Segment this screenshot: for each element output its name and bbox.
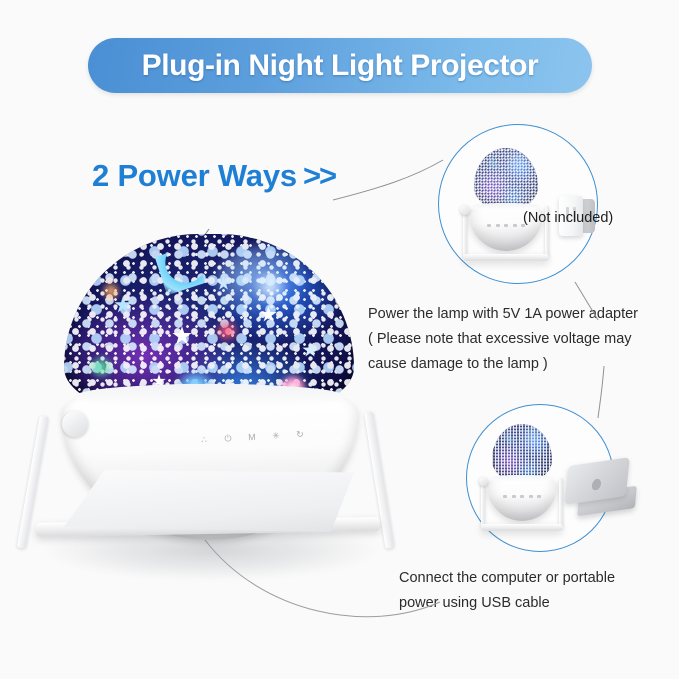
section-heading-label: 2 Power Ways: [92, 158, 297, 193]
star-cluster-icon[interactable]: ∴: [196, 435, 212, 445]
lamp-moon-icon: [490, 156, 501, 167]
section-heading: 2 Power Ways>>: [92, 158, 335, 194]
control-dot: [520, 495, 524, 498]
lamp-starfield: [474, 148, 538, 210]
lamp-body: [487, 475, 557, 521]
brightness-icon[interactable]: ✳: [268, 431, 284, 441]
light-bloom: [214, 318, 240, 344]
rotation-icon[interactable]: ↻: [292, 429, 308, 439]
chevron-right-icon: >>: [303, 158, 335, 193]
lamp-dome: [492, 424, 552, 482]
control-dot: [503, 495, 507, 498]
lamp-dome: [474, 148, 538, 210]
control-dot: [513, 224, 517, 227]
star-projector-lamp: [28, 234, 388, 564]
laptop-computer: [564, 462, 638, 520]
lamp-tilt-knob[interactable]: [460, 205, 470, 215]
control-dot: [487, 224, 491, 227]
lamp-stand-base: [481, 524, 563, 531]
lamp-specular-highlight: [215, 245, 314, 319]
lamp-control-panel[interactable]: [487, 224, 525, 227]
lamp-specular-highlight: [507, 152, 529, 177]
lamp-specular-highlight: [523, 427, 543, 450]
lamp-tilt-knob[interactable]: [479, 477, 488, 486]
light-bloom: [100, 280, 122, 302]
not-included-label: (Not included): [523, 210, 613, 226]
control-dot: [529, 495, 533, 498]
lamp-stand-platform: [64, 470, 354, 532]
control-dot: [537, 495, 541, 498]
header-banner: Plug-in Night Light Projector: [88, 38, 592, 93]
adapter-power-caption: Power the lamp with 5V 1A power adapter …: [368, 302, 674, 377]
lamp-rim: [490, 475, 554, 482]
lamp-stand-base: [463, 254, 549, 261]
light-bloom: [88, 354, 114, 380]
usb-power-caption: Connect the computer or portable power u…: [399, 566, 667, 616]
inset-lamp-usb: [479, 424, 571, 542]
control-dot: [496, 224, 500, 227]
infographic-page: Plug-in Night Light Projector 2 Power Wa…: [0, 0, 679, 679]
power-icon[interactable]: ⏻: [220, 433, 236, 443]
lamp-moon-icon: [506, 431, 517, 442]
control-dot: [504, 224, 508, 227]
lamp-rim: [74, 384, 346, 409]
control-dot: [512, 495, 516, 498]
lamp-tilt-knob[interactable]: [62, 411, 88, 437]
lamp-stand-arm-right: [559, 478, 563, 528]
page-title: Plug-in Night Light Projector: [142, 49, 539, 83]
mode-icon[interactable]: M: [244, 432, 260, 442]
lamp-control-panel[interactable]: [503, 495, 541, 498]
